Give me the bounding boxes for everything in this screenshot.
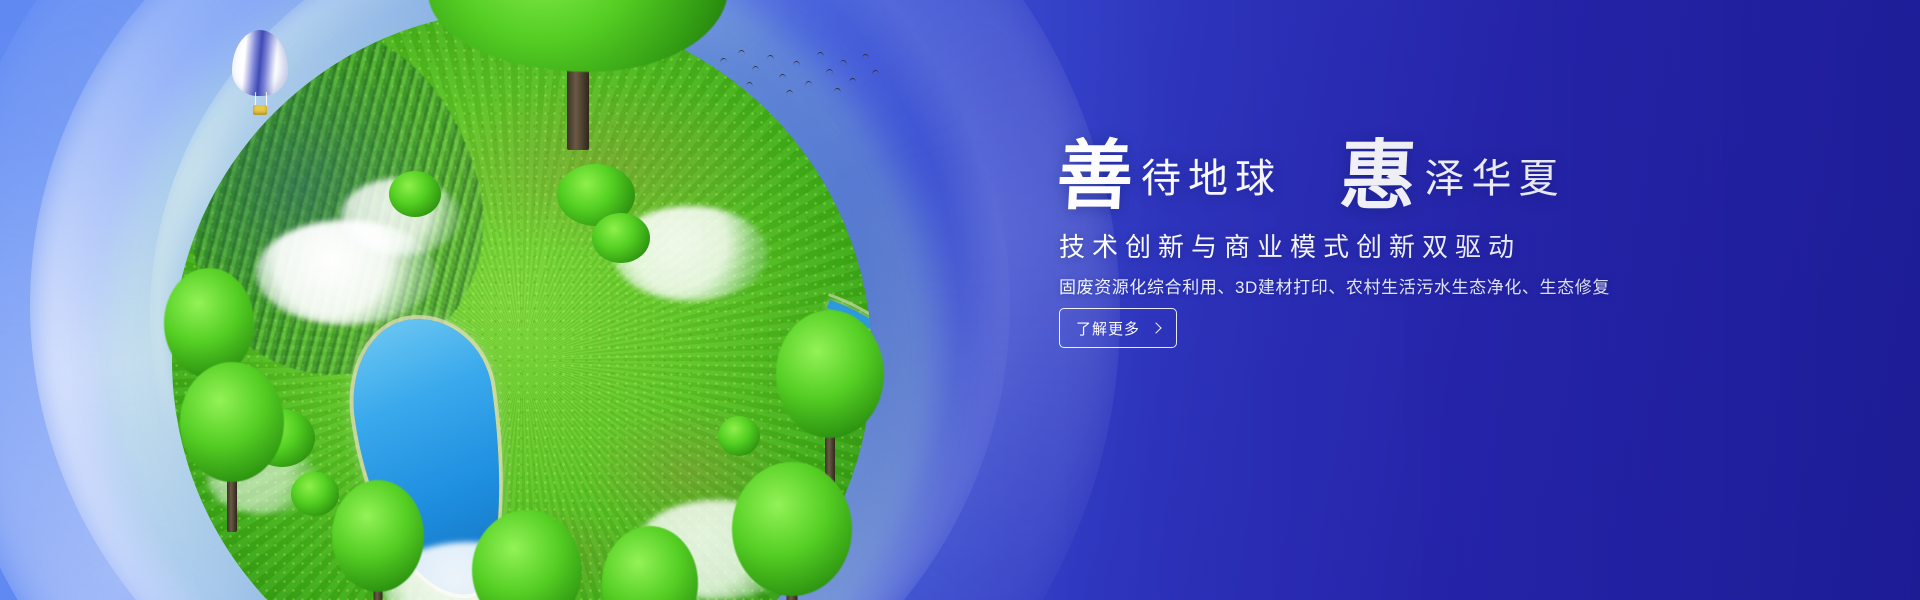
hot-air-balloon-icon xyxy=(232,30,288,120)
rim-tree xyxy=(776,310,884,490)
tree-clump xyxy=(718,416,760,456)
tree-clump xyxy=(389,171,441,217)
cloud-puff xyxy=(613,206,768,301)
tree-crown xyxy=(732,462,852,596)
rim-tree xyxy=(602,526,698,600)
headline-big-1: 善 xyxy=(1055,138,1135,214)
tree-trunk xyxy=(205,360,214,418)
learn-more-button[interactable]: 了解更多 xyxy=(1059,308,1177,348)
tree-trunk xyxy=(227,462,237,532)
rim-tree xyxy=(332,480,424,600)
page-title: 善待地球 惠泽华夏 xyxy=(1057,138,1565,214)
hero-copy-block: 善待地球 惠泽华夏 技术创新与商业模式创新双驱动 固废资源化综合利用、3D建材打… xyxy=(1057,0,1817,600)
tree-crown xyxy=(332,480,424,592)
tree-crown xyxy=(472,510,582,600)
headline-big-2: 惠 xyxy=(1338,138,1418,214)
rim-tree xyxy=(472,510,582,600)
cloud-puff xyxy=(256,220,436,325)
tree-clump xyxy=(557,164,635,226)
cloud-swirl-outer xyxy=(0,0,1120,600)
mountain-ridge xyxy=(172,10,516,405)
river-bank xyxy=(364,198,872,600)
hero-banner: 善待地球 惠泽华夏 技术创新与商业模式创新双驱动 固废资源化综合利用、3D建材打… xyxy=(0,0,1920,600)
learn-more-label: 了解更多 xyxy=(1076,318,1140,339)
tree-crown xyxy=(776,310,884,438)
tree-trunk xyxy=(787,576,798,600)
description-text: 固废资源化综合利用、3D建材打印、农村生活污水生态净化、生态修复 xyxy=(1059,273,1610,298)
subtitle: 技术创新与商业模式创新双驱动 xyxy=(1059,227,1521,264)
cloud-puff xyxy=(634,500,799,600)
rim-tree xyxy=(164,268,254,418)
chevron-right-icon xyxy=(1150,322,1161,333)
tree-trunk xyxy=(567,32,589,150)
cloud-puff xyxy=(340,178,460,256)
large-tree xyxy=(428,0,728,132)
tree-clump xyxy=(592,213,650,263)
tree-trunk xyxy=(374,574,383,600)
cloud-puff xyxy=(382,542,557,600)
cloud-puff xyxy=(207,444,317,514)
lake xyxy=(342,310,520,600)
tree-crown xyxy=(164,268,254,378)
tree-trunk xyxy=(825,418,835,490)
headline-group-1: 善待地球 xyxy=(1057,138,1282,214)
rim-tree xyxy=(732,462,852,600)
balloon-envelope xyxy=(232,30,288,96)
river xyxy=(373,206,872,600)
tree-crown xyxy=(428,0,728,72)
tree-crown xyxy=(180,362,284,482)
tree-clump xyxy=(291,472,339,516)
headline-small-2: 泽华夏 xyxy=(1424,146,1565,204)
tree-crown xyxy=(602,526,698,600)
headline-small-1: 待地球 xyxy=(1141,146,1282,204)
bird-flock-icon xyxy=(716,48,886,104)
rim-tree xyxy=(180,362,284,532)
headline-group-2: 惠泽华夏 xyxy=(1340,138,1565,214)
balloon-basket xyxy=(253,105,267,115)
tree-clump xyxy=(249,409,315,467)
